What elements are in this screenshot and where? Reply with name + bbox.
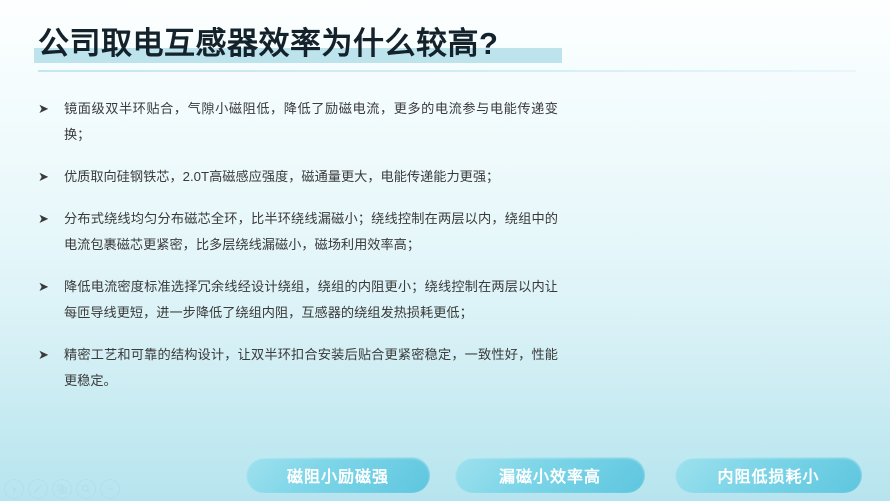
page-title: 公司取电互感器效率为什么较高?: [38, 22, 498, 66]
minus-icon[interactable]: [100, 479, 120, 499]
highlight-pill-1[interactable]: 磁阻小励磁强: [246, 457, 430, 493]
arrow-bullet-icon: ➤: [38, 342, 58, 368]
list-item: ➤ 镜面级双半环贴合，气隙小磁阻低，降低了励磁电流，更多的电流参与电能传递变换；: [38, 96, 558, 148]
highlight-pill-row: 磁阻小励磁强 漏磁小效率高 内阻低损耗小: [0, 457, 890, 495]
list-item-text: 降低电流密度标准选择冗余线经设计绕组，绕组的内阻更小；绕线控制在两层以内让每匝导…: [64, 274, 558, 326]
list-item: ➤ 精密工艺和可靠的结构设计，让双半环扣合安装后贴合更紧密稳定，一致性好，性能更…: [38, 342, 558, 394]
list-item-text: 精密工艺和可靠的结构设计，让双半环扣合安装后贴合更紧密稳定，一致性好，性能更稳定…: [64, 342, 558, 394]
page-title-block: 公司取电互感器效率为什么较高?: [38, 22, 498, 68]
highlight-pill-3[interactable]: 内阻低损耗小: [675, 457, 862, 493]
list-item: ➤ 分布式绕线均匀分布磁芯全环，比半环绕线漏磁小；绕线控制在两层以内，绕组中的电…: [38, 206, 558, 258]
list-item-text: 镜面级双半环贴合，气隙小磁阻低，降低了励磁电流，更多的电流参与电能传递变换；: [64, 96, 558, 148]
layers-icon[interactable]: [52, 479, 72, 499]
arrow-bullet-icon: ➤: [38, 206, 58, 232]
arrow-bullet-icon: ➤: [38, 96, 58, 122]
pen-icon[interactable]: [28, 479, 48, 499]
search-icon[interactable]: [76, 479, 96, 499]
list-item-text: 分布式绕线均匀分布磁芯全环，比半环绕线漏磁小；绕线控制在两层以内，绕组中的电流包…: [64, 206, 558, 258]
list-item: ➤ 降低电流密度标准选择冗余线经设计绕组，绕组的内阻更小；绕线控制在两层以内让每…: [38, 274, 558, 326]
highlight-pill-2[interactable]: 漏磁小效率高: [455, 457, 645, 493]
list-item: ➤ 优质取向硅钢铁芯，2.0T高磁感应强度，磁通量更大，电能传递能力更强；: [38, 164, 558, 190]
arrow-bullet-icon: ➤: [38, 164, 58, 190]
list-item-text: 优质取向硅钢铁芯，2.0T高磁感应强度，磁通量更大，电能传递能力更强；: [64, 164, 558, 190]
floating-toolbar: [4, 479, 120, 499]
bullet-list: ➤ 镜面级双半环贴合，气隙小磁阻低，降低了励磁电流，更多的电流参与电能传递变换；…: [38, 96, 558, 410]
arrow-bullet-icon: ➤: [38, 274, 58, 300]
title-divider: [38, 70, 856, 72]
play-icon[interactable]: [4, 479, 24, 499]
slide-root: 公司取电互感器效率为什么较高? ➤ 镜面级双半环贴合，气隙小磁阻低，降低了励磁电…: [0, 0, 890, 501]
